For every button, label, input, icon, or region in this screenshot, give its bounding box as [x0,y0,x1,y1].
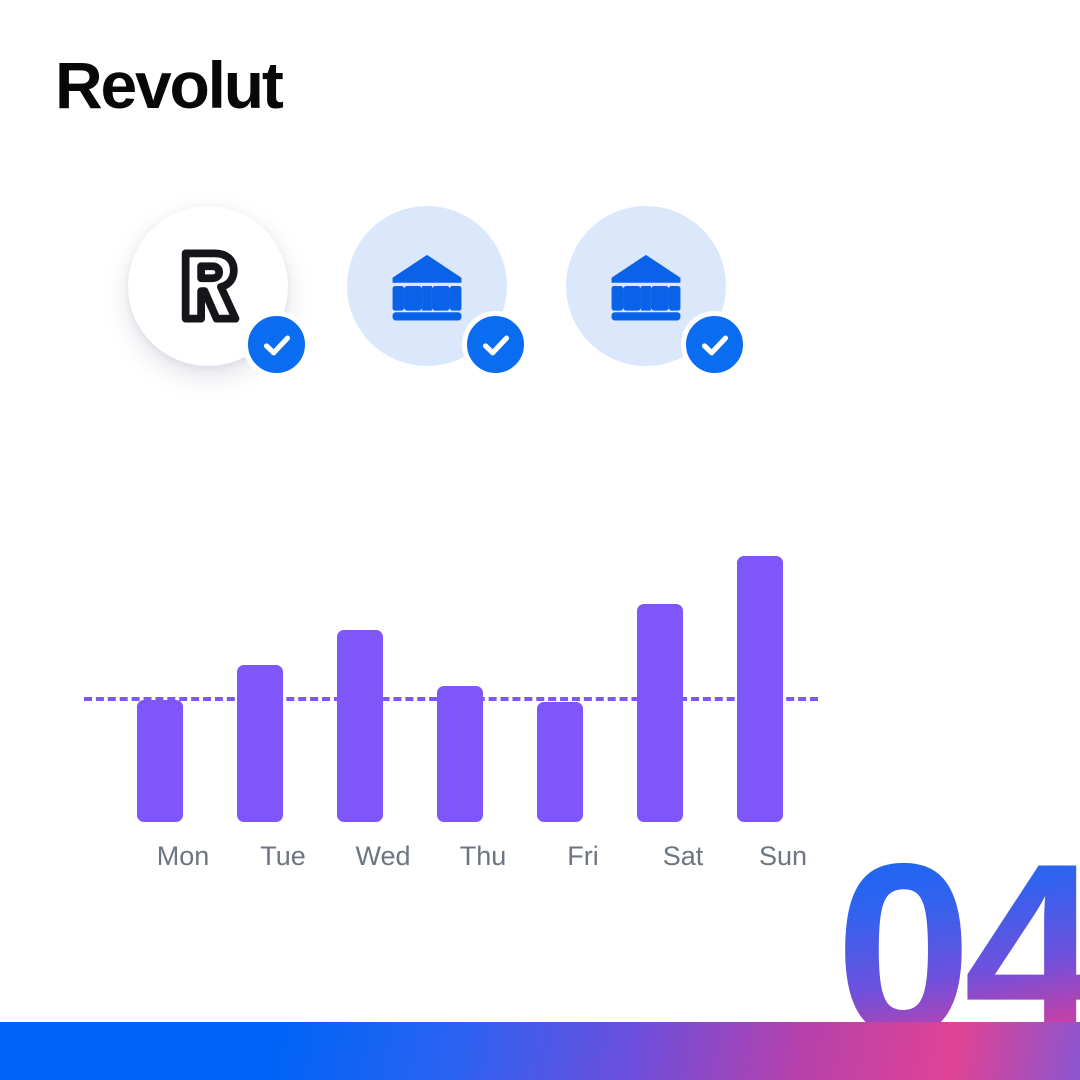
revolut-wordmark: Revolut [55,52,282,118]
check-icon [462,311,529,378]
x-label-sun: Sun [723,843,843,870]
bottom-gradient-band [0,1022,1080,1080]
chart-x-axis-labels: MonTueWedThuFriSatSun [110,843,810,877]
bar-fri[interactable] [537,702,583,822]
check-icon [243,311,310,378]
bar-thu[interactable] [437,686,483,822]
check-icon [681,311,748,378]
bar-mon[interactable] [137,700,183,822]
account-badge-bank-account-1[interactable] [347,206,507,366]
account-badge-revolut-account[interactable] [128,206,288,366]
slide-canvas: Revolut MonTueWedThuFriSatSun 04 [0,0,1080,1080]
chart-bars [110,556,810,822]
account-badge-bank-account-2[interactable] [566,206,726,366]
bar-wed[interactable] [337,630,383,822]
bar-sat[interactable] [637,604,683,822]
linked-accounts-row [128,206,726,366]
bar-sun[interactable] [737,556,783,822]
bar-tue[interactable] [237,665,283,822]
average-line [84,697,818,701]
